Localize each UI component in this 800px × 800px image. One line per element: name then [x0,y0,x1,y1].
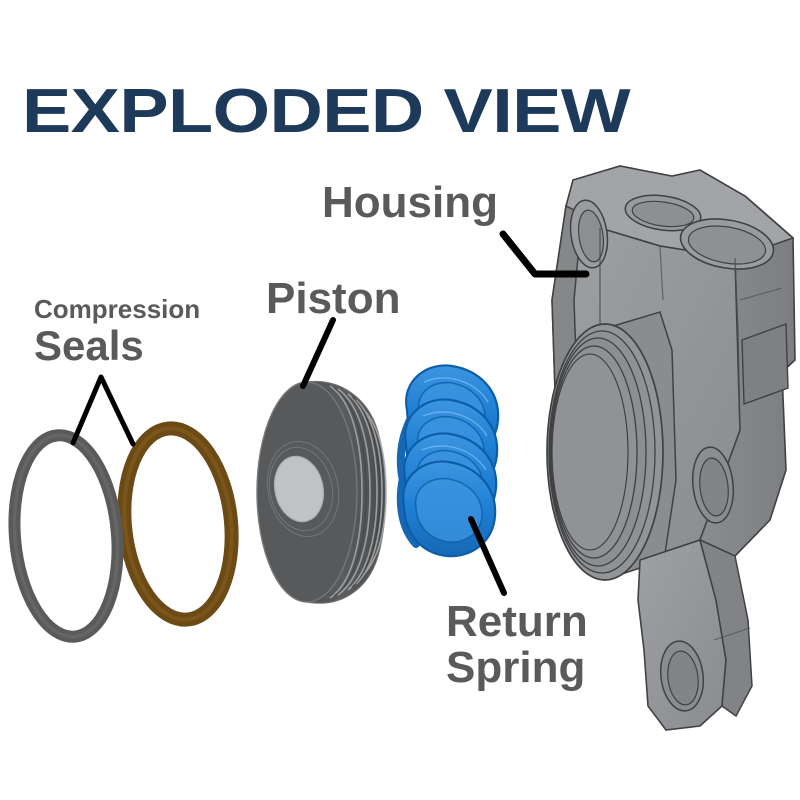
housing-mounting-foot [638,540,752,730]
exploded-view-diagram: EXPLODED VIEW Compression Seals Piston H… [0,0,800,800]
leader-piston [303,320,333,386]
part-return-spring[interactable] [401,365,498,556]
label-seals: Seals [34,322,144,369]
seal-gray-ring [6,431,125,641]
part-seal-brown[interactable] [115,423,240,625]
label-housing: Housing [322,178,498,227]
part-piston[interactable] [257,381,386,603]
part-seal-gray[interactable] [6,431,125,641]
label-piston: Piston [266,274,400,323]
page-title: EXPLODED VIEW [22,77,631,146]
label-spring: Spring [446,643,585,692]
label-return: Return [446,597,588,646]
housing-bore-cavity [552,354,628,550]
seal-brown-ring [115,423,240,625]
diagram-canvas: EXPLODED VIEW Compression Seals Piston H… [0,0,800,800]
leader-compression-seals [73,377,133,444]
spring-coils [403,365,498,556]
label-compression: Compression [34,294,200,324]
